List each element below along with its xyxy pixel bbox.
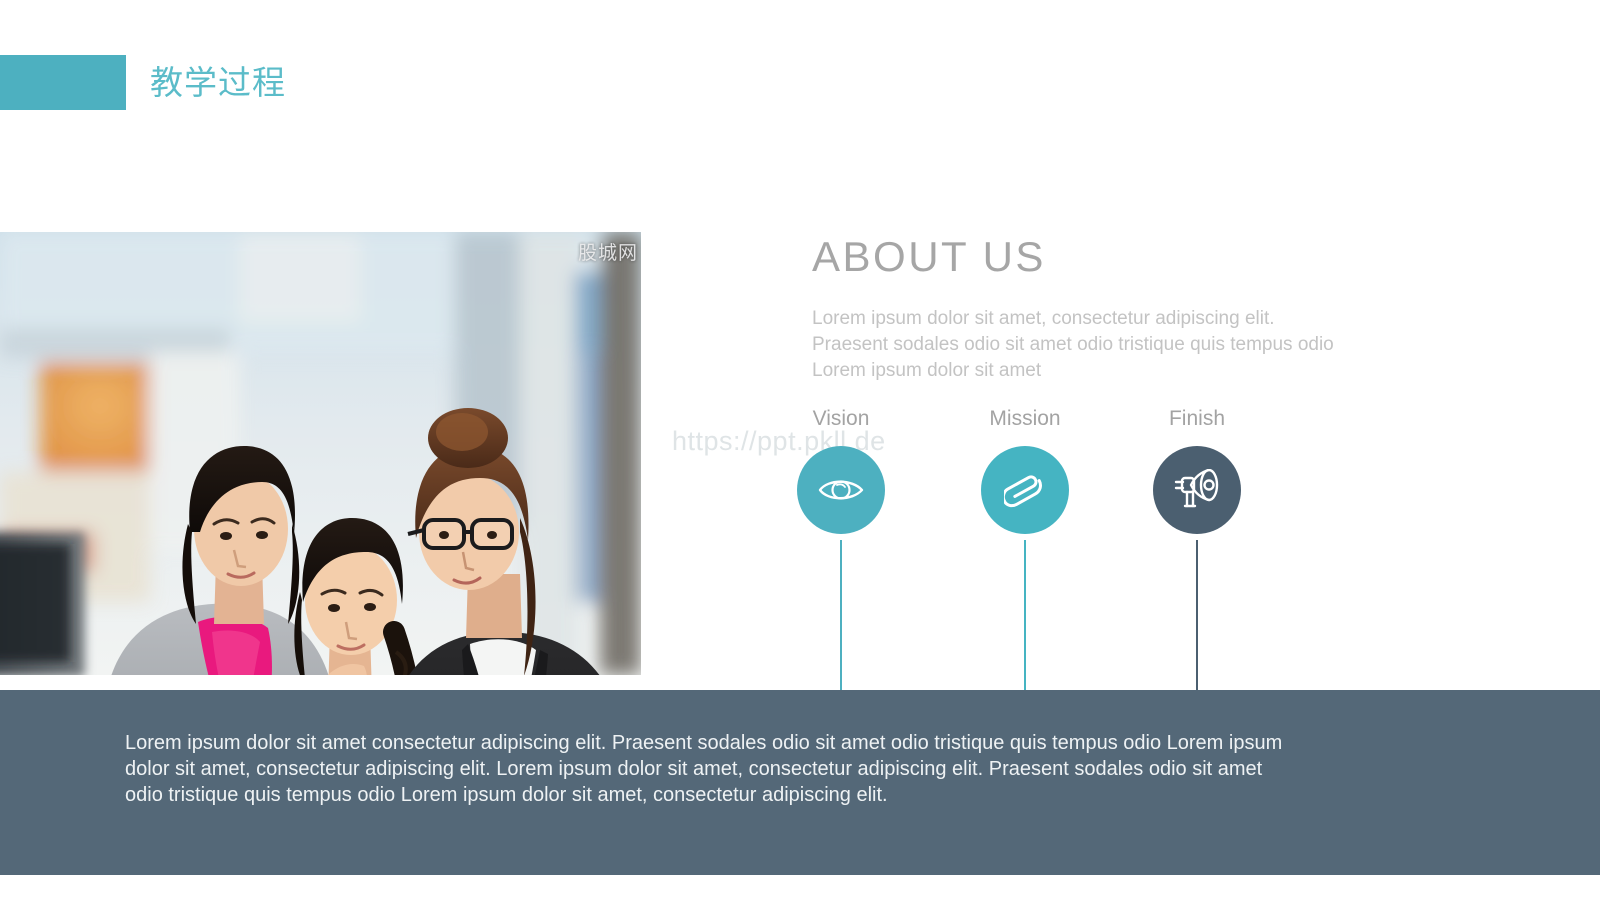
footer-text: Lorem ipsum dolor sit amet consectetur a… xyxy=(125,730,1425,808)
footer-line-3: odio tristique quis tempus odio Lorem ip… xyxy=(125,782,1425,808)
eye-icon xyxy=(818,475,864,505)
step-mission-label: Mission xyxy=(940,405,1110,433)
about-line-2: Praesent sodales odio sit amet odio tris… xyxy=(812,332,1452,358)
footer-line-2: dolor sit amet, consectetur adipiscing e… xyxy=(125,756,1425,782)
step-finish[interactable]: Finish xyxy=(1112,405,1282,534)
step-vision-circle[interactable] xyxy=(797,446,885,534)
photo-teacher-student: 股城网 xyxy=(0,232,641,675)
step-vision-label: Vision xyxy=(756,405,926,433)
step-mission[interactable]: Mission xyxy=(940,405,1110,534)
footer-line-1: Lorem ipsum dolor sit amet consectetur a… xyxy=(125,730,1425,756)
step-finish-connector xyxy=(1196,540,1198,697)
megaphone-icon xyxy=(1173,469,1221,511)
step-mission-connector xyxy=(1024,540,1026,697)
header-accent-bar xyxy=(0,55,126,110)
step-vision[interactable]: Vision xyxy=(756,405,926,534)
step-vision-connector xyxy=(840,540,842,697)
paperclip-icon xyxy=(1004,467,1046,513)
photo-watermark: 股城网 xyxy=(578,242,638,264)
step-mission-circle[interactable] xyxy=(981,446,1069,534)
slide-canvas: 教学过程 xyxy=(0,0,1600,900)
about-description: Lorem ipsum dolor sit amet, consectetur … xyxy=(812,306,1452,384)
about-heading: ABOUT US xyxy=(812,231,1046,283)
step-finish-label: Finish xyxy=(1112,405,1282,433)
about-line-1: Lorem ipsum dolor sit amet, consectetur … xyxy=(812,306,1452,332)
about-line-3: Lorem ipsum dolor sit amet xyxy=(812,358,1452,384)
page-title: 教学过程 xyxy=(150,58,286,108)
step-finish-circle[interactable] xyxy=(1153,446,1241,534)
